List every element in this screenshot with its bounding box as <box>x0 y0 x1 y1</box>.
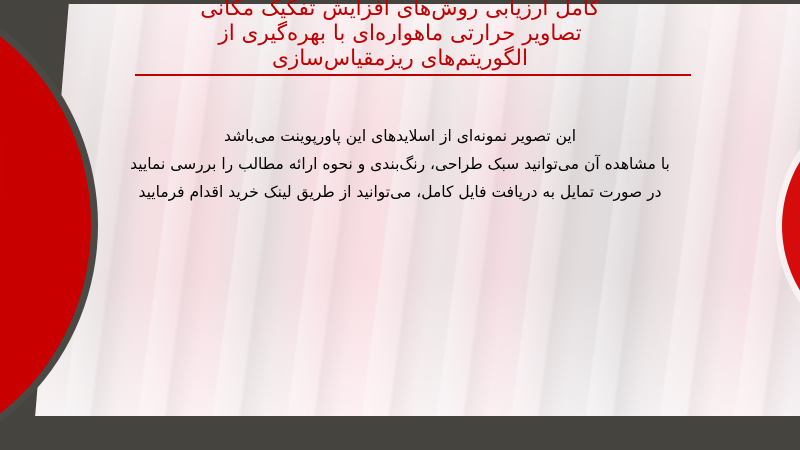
slide-content-plate <box>0 4 800 416</box>
title-divider-rule <box>135 74 691 76</box>
presentation-slide: کامل ارزیابی روش‌های افزایش تفکیک مکانی … <box>0 0 800 450</box>
